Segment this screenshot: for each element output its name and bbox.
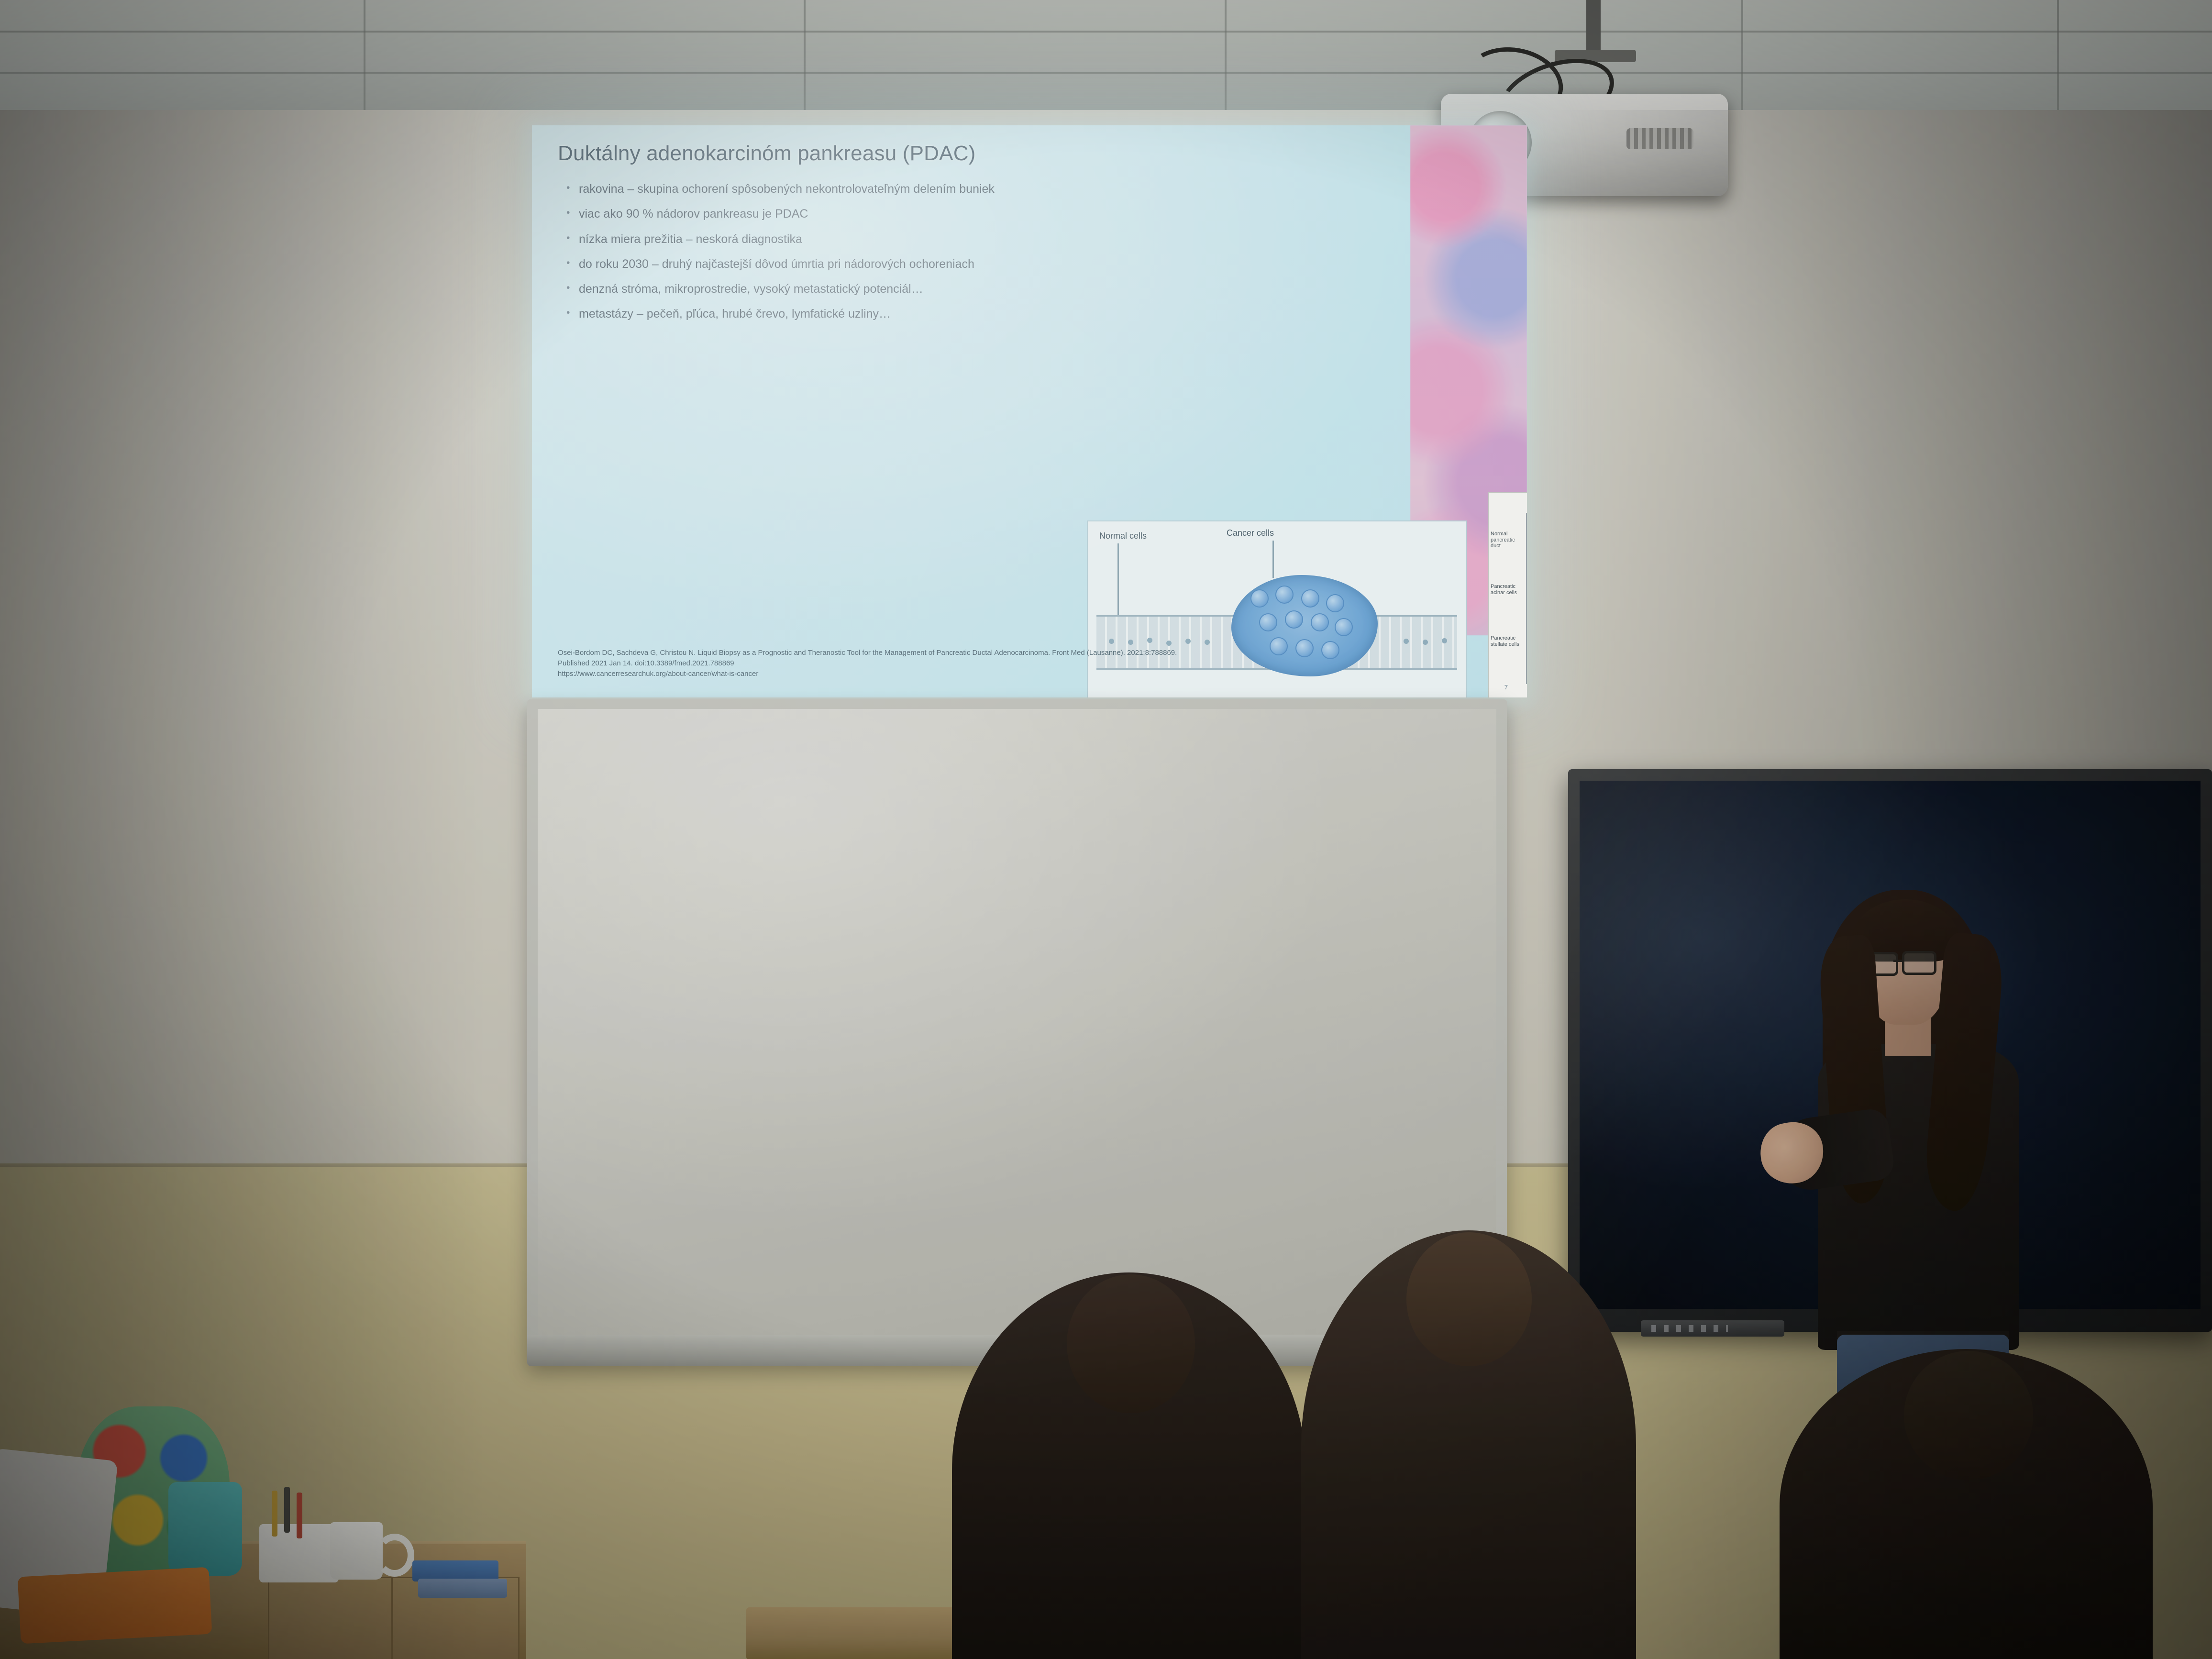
figure-title: Pancreatic Ductal Adenocarcinoma (PDAC) [1489, 498, 1527, 507]
flat-panel-buttons-icon[interactable] [1651, 1325, 1728, 1332]
bullet-dot-icon: • [566, 182, 579, 194]
notebook [418, 1579, 507, 1598]
classroom-scene: Duktálny adenokarcinóm pankreasu (PDAC) … [0, 0, 2212, 1659]
projector-mount [1586, 0, 1601, 57]
figure-side-label: Pancreatic stellate cells [1491, 635, 1525, 647]
bullet-dot-icon: • [566, 282, 579, 294]
list-item: • do roku 2030 – druhý najčastejší dôvod… [566, 257, 1313, 272]
figure-label-cancer-cells: Cancer cells [1227, 528, 1274, 538]
slide-citation: Osei-Bordom DC, Sachdeva G, Christou N. … [558, 648, 1371, 679]
mug-handle [375, 1534, 414, 1577]
figure-label-normal-cells: Normal cells [1099, 531, 1147, 541]
glasses-icon [1902, 951, 1936, 975]
bullet-dot-icon: • [566, 232, 579, 244]
bullet-dot-icon: • [566, 307, 579, 319]
list-item: • metastázy – pečeň, pľúca, hrubé črevo,… [566, 307, 1313, 321]
bullet-dot-icon: • [566, 207, 579, 219]
slide-bullet-list: • rakovina – skupina ochorení spôsobenýc… [566, 182, 1313, 332]
bullet-text: nízka miera prežitia – neskorá diagnosti… [579, 232, 802, 247]
list-item: • viac ako 90 % nádorov pankreasu je PDA… [566, 207, 1313, 221]
glasses-bridge-icon [1893, 960, 1903, 962]
bullet-text: metastázy – pečeň, pľúca, hrubé črevo, l… [579, 307, 891, 321]
figure-panel-pair: Normal pancreatic tissue PDAC [1526, 513, 1527, 684]
figure-side-label: Normal pancreatic duct [1491, 531, 1525, 549]
whiteboard[interactable] [538, 709, 1496, 1340]
figure-pdac-schematic: Pancreatic Ductal Adenocarcinoma (PDAC) … [1488, 492, 1527, 697]
student-head [1067, 1274, 1195, 1413]
bullet-text: do roku 2030 – druhý najčastejší dôvod ú… [579, 257, 974, 272]
bullet-dot-icon: • [566, 257, 579, 269]
list-item: • nízka miera prežitia – neskorá diagnos… [566, 232, 1313, 247]
presentation-slide: Duktálny adenokarcinóm pankreasu (PDAC) … [532, 125, 1527, 697]
list-item: • rakovina – skupina ochorení spôsobenýc… [566, 182, 1313, 197]
slide-page-number: 7 [1504, 684, 1508, 691]
figure-side-label: Pancreatic acinar cells [1491, 584, 1525, 596]
student-head [1406, 1232, 1532, 1366]
projector-vent [1626, 128, 1693, 149]
mug [330, 1522, 383, 1580]
orange-bag [18, 1567, 212, 1644]
citation-line: Published 2021 Jan 14. doi:10.3389/fmed.… [558, 658, 1371, 669]
cabinet-door-divider [391, 1577, 393, 1659]
projection-screen: Duktálny adenokarcinóm pankreasu (PDAC) … [532, 125, 1527, 697]
student-head [1904, 1351, 2033, 1480]
citation-line: Osei-Bordom DC, Sachdeva G, Christou N. … [558, 648, 1371, 658]
slide-title: Duktálny adenokarcinóm pankreasu (PDAC) [558, 142, 976, 166]
teal-container [168, 1482, 242, 1576]
bullet-text: denzná stróma, mikroprostredie, vysoký m… [579, 282, 923, 297]
list-item: • denzná stróma, mikroprostredie, vysoký… [566, 282, 1313, 297]
bullet-text: viac ako 90 % nádorov pankreasu je PDAC [579, 207, 808, 221]
ceiling [0, 0, 2212, 120]
pen-holder [259, 1524, 339, 1582]
presenter [1765, 890, 2062, 1426]
citation-link[interactable]: https://www.cancerresearchuk.org/about-c… [558, 669, 1371, 679]
bullet-text: rakovina – skupina ochorení spôsobených … [579, 182, 995, 197]
